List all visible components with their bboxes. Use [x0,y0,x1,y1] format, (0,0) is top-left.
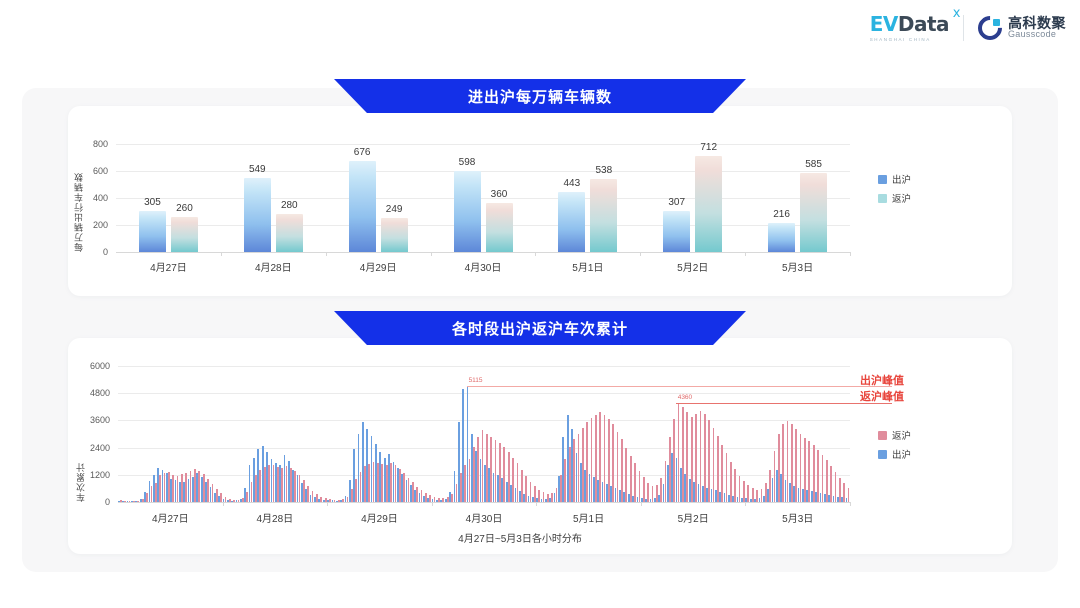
chart2-legend-label: 出沪 [892,447,911,461]
gausscode-text: 高科数聚 Gausscode [1008,16,1066,41]
chart2-out-peak-title: 出沪峰值 [860,372,904,388]
chart1-gridline [116,144,850,145]
chart1-bar-返沪 [276,214,303,252]
evdata-x-icon: x [953,7,960,20]
chart2-y-tick: 0 [70,497,110,507]
chart2-y-tick: 2400 [70,443,110,453]
chart2-gridline [118,448,850,449]
chart1-x-tickmark [431,252,432,256]
chart2-legend-label: 返沪 [892,428,911,442]
chart1-bar-返沪 [590,179,617,252]
evdata-logo: EVDatax SHANGHAI CHINA [870,14,949,42]
chart1-x-tick: 4月29日 [360,259,397,274]
chart2-x-tick: 4月29日 [361,510,398,525]
chart1-bar-出沪 [139,211,166,252]
chart2-y-tick: 4800 [70,388,110,398]
chart1-legend-label: 返沪 [892,191,911,205]
chart1-x-tickmark [745,252,746,256]
chart2-legend-swatch [878,431,887,440]
chart1-y-tick: 200 [74,220,108,230]
evdata-subtitle: SHANGHAI CHINA [870,37,931,42]
chart2-y-tick: 3600 [70,415,110,425]
chart1-bar-返沪 [800,173,827,252]
logo-divider [963,15,964,41]
chart1-bar-value-label: 307 [668,197,685,208]
chart1-bar-value-label: 280 [281,200,298,211]
chart2-x-tick: 5月2日 [678,510,709,525]
chart2-x-tickmark [432,502,433,506]
chart1-gridline [116,225,850,226]
chart2-x-tickmark [641,502,642,506]
evdata-data-text: Data [898,12,949,36]
chart1-bar-value-label: 538 [596,165,613,176]
chart1-x-tick: 5月1日 [572,259,603,274]
chart1-bar-出沪 [244,178,271,252]
chart1-legend-label: 出沪 [892,172,911,186]
chart2-plot: 车次累计0120024003600480060004月27日4月28日4月29日… [70,352,970,548]
chart1-legend-item: 出沪 [878,172,911,186]
chart2-return-peak-value: 4360 [678,394,692,401]
chart1-legend-swatch [878,194,887,203]
chart1-bar-出沪 [454,171,481,252]
evdata-ev-text: EV [870,12,898,36]
chart1-bar-value-label: 676 [354,147,371,158]
chart1-x-tick: 4月30日 [465,259,502,274]
chart1-axis-baseline [116,252,850,253]
chart1-plot: 每万辆出行车辆数02004006008004月27日3052604月28日549… [70,118,970,278]
chart1-x-tick: 4月27日 [150,259,187,274]
chart1-x-tickmark [535,252,536,256]
chart1-bar-返沪 [171,217,198,252]
chart1-x-tickmark [640,252,641,256]
chart1-title-banner: 进出沪每万辆车辆数 [334,79,746,113]
chart2-bar-return [848,488,850,502]
chart2-x-tick: 4月30日 [466,510,503,525]
chart2-x-tick: 4月28日 [257,510,294,525]
chart2-return-peak-title: 返沪峰值 [860,388,904,404]
chart1-y-tick: 800 [74,139,108,149]
chart1-bar-返沪 [381,218,408,252]
chart1-bar-出沪 [663,211,690,252]
chart1-bar-value-label: 249 [386,204,403,215]
chart1-x-tick: 5月3日 [782,259,813,274]
chart1-bar-value-label: 216 [773,209,790,220]
chart1-x-tickmark [326,252,327,256]
chart1-y-tick: 400 [74,193,108,203]
chart1-y-tick: 0 [74,247,108,257]
chart2-out-peak-value: 5115 [469,377,483,384]
gausscode-cn-name: 高科数聚 [1008,16,1066,31]
chart1-y-tick: 600 [74,166,108,176]
chart2-gridline [118,420,850,421]
chart1-bar-value-label: 712 [700,142,717,153]
chart1-legend-item: 返沪 [878,191,911,205]
chart2-x-tickmark [850,502,851,506]
chart2-x-tickmark [536,502,537,506]
chart1-gridline [116,198,850,199]
chart2-legend-item: 返沪 [878,428,911,442]
chart2-axis-baseline [118,502,850,503]
chart1-bar-value-label: 360 [491,189,508,200]
chart2-legend: 返沪出沪 [878,428,911,466]
chart1-bar-value-label: 260 [176,203,193,214]
chart2-x-axis-label: 4月27日~5月3日各小时分布 [70,530,970,545]
gausscode-en-name: Gausscode [1008,30,1066,40]
chart1-bar-返沪 [695,156,722,252]
chart1-gridline [116,171,850,172]
chart2-x-tick: 4月27日 [152,510,189,525]
chart1-legend-swatch [878,175,887,184]
chart2-y-tick: 1200 [70,470,110,480]
header-logos: EVDatax SHANGHAI CHINA 高科数聚 Gausscode [870,14,1066,42]
chart2-x-tick: 5月1日 [573,510,604,525]
chart1-bar-value-label: 443 [564,178,581,189]
chart2-out-peak-line [467,386,892,387]
chart1-bar-出沪 [558,192,585,252]
chart2-y-axis-label: 车次累计 [74,366,87,502]
chart1-bar-value-label: 549 [249,164,266,175]
chart2-y-tick: 6000 [70,361,110,371]
chart2-x-tickmark [327,502,328,506]
chart2-gridline [118,393,850,394]
chart1-legend: 出沪返沪 [878,172,911,210]
chart2-x-tick: 5月3日 [782,510,813,525]
chart1-x-tick: 4月28日 [255,259,292,274]
gausscode-mark-icon [978,16,1002,40]
evdata-wordmark: EVDatax [870,14,949,34]
chart2-legend-swatch [878,450,887,459]
chart2-gridline [118,366,850,367]
chart2-x-tickmark [745,502,746,506]
chart2-legend-item: 出沪 [878,447,911,461]
chart1-bar-value-label: 305 [144,197,161,208]
chart1-bar-value-label: 585 [805,159,822,170]
chart1-x-tickmark [221,252,222,256]
chart1-bar-返沪 [486,203,513,252]
chart1-x-tickmark [850,252,851,256]
chart2-title-banner: 各时段出沪返沪车次累计 [334,311,746,345]
chart1-x-tick: 5月2日 [677,259,708,274]
chart2-x-tickmark [223,502,224,506]
chart1-bar-出沪 [768,223,795,252]
chart1-bar-value-label: 598 [459,157,476,168]
chart1-bar-出沪 [349,161,376,252]
gausscode-logo: 高科数聚 Gausscode [978,16,1066,41]
